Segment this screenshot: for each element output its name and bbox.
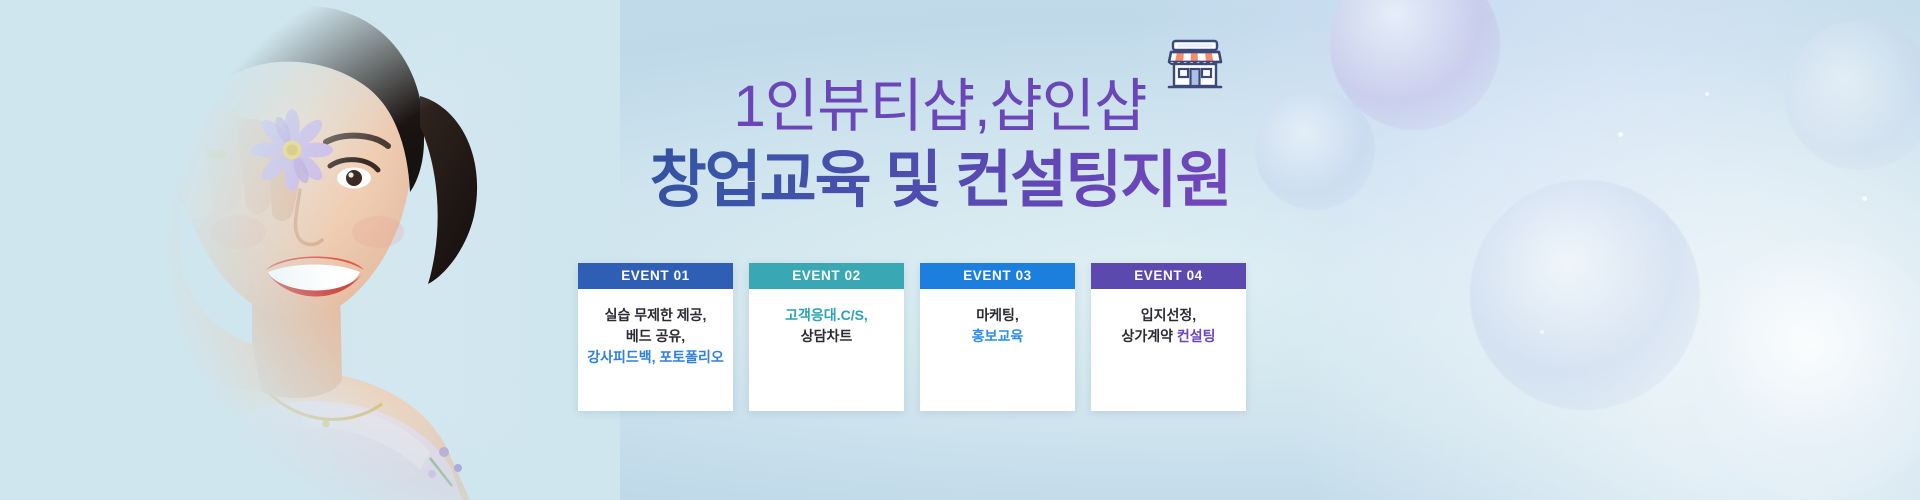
event-card[interactable]: EVENT 02고객응대.C/S,상담차트 — [749, 263, 904, 411]
event-card-line: 고객응대.C/S, — [755, 305, 898, 326]
event-card-line: 베드 공유, — [584, 326, 727, 347]
event-card-badge: EVENT 01 — [578, 263, 733, 289]
bokeh-blob — [1470, 180, 1700, 410]
event-card-badge: EVENT 04 — [1091, 263, 1246, 289]
event-card-body: 마케팅,홍보교육 — [920, 289, 1075, 411]
promo-banner: 1인뷰티샵,샵인샵 창업교육 및 컨설팅지원 EVENT 01실습 무제한 제공… — [0, 0, 1920, 500]
event-card-body: 입지선정,상가계약 컨설팅 — [1091, 289, 1246, 411]
sparkle-dot — [1618, 132, 1623, 137]
event-card[interactable]: EVENT 04입지선정,상가계약 컨설팅 — [1091, 263, 1246, 411]
event-card-line: 상가계약 컨설팅 — [1097, 326, 1240, 347]
bokeh-blob — [1690, 240, 1920, 500]
event-card[interactable]: EVENT 01실습 무제한 제공,베드 공유,강사피드백, 포토폴리오 — [578, 263, 733, 411]
sparkle-dot — [1862, 196, 1867, 201]
headline-line-1: 1인뷰티샵,샵인샵 — [600, 78, 1280, 136]
event-card-body: 실습 무제한 제공,베드 공유,강사피드백, 포토폴리오 — [578, 289, 733, 411]
event-card-line: 강사피드백, 포토폴리오 — [584, 347, 727, 368]
event-card[interactable]: EVENT 03마케팅,홍보교육 — [920, 263, 1075, 411]
bokeh-blob — [1330, 0, 1500, 130]
event-card-line: 상담차트 — [755, 326, 898, 347]
event-card-line-highlight: 컨설팅 — [1177, 328, 1216, 344]
card-scallop-edge — [920, 405, 1075, 417]
headline-line-2: 창업교육 및 컨설팅지원 — [600, 148, 1280, 213]
event-card-body: 고객응대.C/S,상담차트 — [749, 289, 904, 411]
event-card-line: 마케팅, — [926, 305, 1069, 326]
event-card-line: 입지선정, — [1097, 305, 1240, 326]
event-card-list: EVENT 01실습 무제한 제공,베드 공유,강사피드백, 포토폴리오EVEN… — [578, 263, 1246, 411]
sparkle-dot — [1540, 330, 1544, 334]
event-card-badge: EVENT 03 — [920, 263, 1075, 289]
event-card-badge: EVENT 02 — [749, 263, 904, 289]
headline: 1인뷰티샵,샵인샵 창업교육 및 컨설팅지원 — [600, 78, 1280, 213]
event-card-line: 실습 무제한 제공, — [584, 305, 727, 326]
card-scallop-edge — [578, 405, 733, 417]
bokeh-blob — [1785, 20, 1920, 170]
card-scallop-edge — [749, 405, 904, 417]
model-photo — [0, 0, 620, 500]
card-scallop-edge — [1091, 405, 1246, 417]
event-card-line: 홍보교육 — [926, 326, 1069, 347]
sparkle-dot — [1705, 92, 1709, 96]
